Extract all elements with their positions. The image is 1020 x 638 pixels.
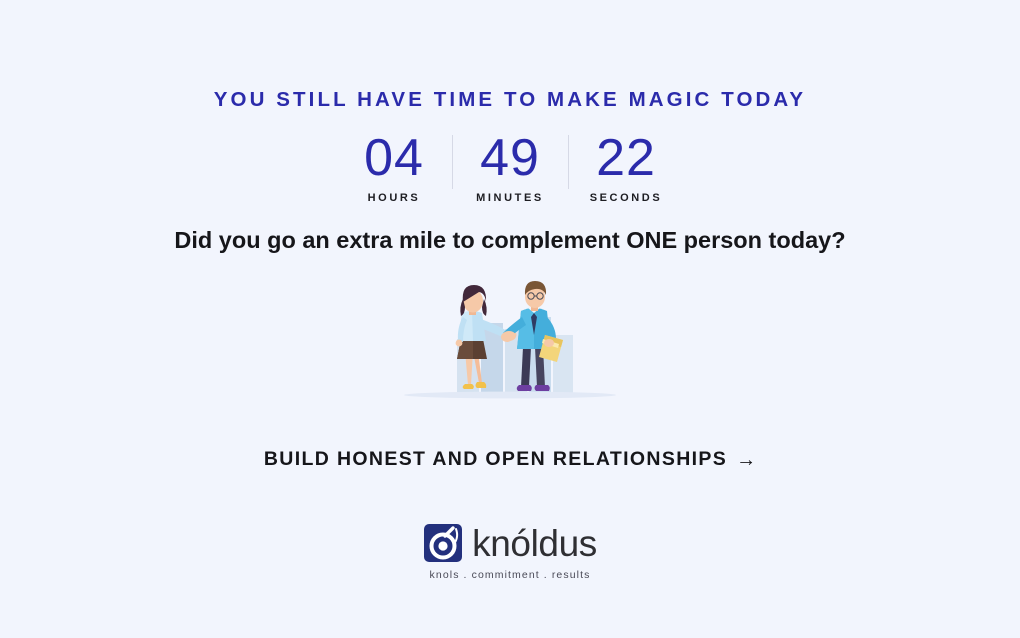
ground-shadow — [404, 392, 616, 399]
handshake-illustration-svg — [395, 277, 625, 405]
email-body: YOU STILL HAVE TIME TO MAKE MAGIC TODAY … — [0, 0, 1020, 638]
clasped-hands — [502, 331, 516, 341]
logo-wordmark: knóldus — [472, 525, 597, 562]
cta-label: BUILD HONEST AND OPEN RELATIONSHIPS — [264, 448, 727, 471]
countdown-minutes-label: MINUTES — [476, 192, 544, 204]
knoldus-logo-icon — [423, 523, 463, 563]
logo-row: knóldus — [423, 523, 597, 563]
logo-tagline: knols . commitment . results — [430, 569, 591, 581]
countdown-unit-hours: 04 HOURS — [337, 131, 452, 204]
brand-logo: knóldus knols . commitment . results — [423, 523, 597, 581]
handshake-illustration — [390, 276, 630, 406]
prompt-question: Did you go an extra mile to complement O… — [174, 227, 845, 254]
countdown-seconds-value: 22 — [596, 131, 656, 185]
countdown-hours-value: 04 — [364, 131, 424, 185]
countdown-unit-minutes: 49 MINUTES — [453, 131, 568, 204]
arrow-right-icon: → — [736, 450, 756, 470]
countdown-hours-label: HOURS — [368, 192, 421, 204]
countdown-seconds-label: SECONDS — [590, 192, 663, 204]
cta-link[interactable]: BUILD HONEST AND OPEN RELATIONSHIPS → — [264, 448, 756, 471]
countdown-unit-seconds: 22 SECONDS — [569, 131, 684, 204]
countdown-minutes-value: 49 — [480, 131, 540, 185]
countdown-timer: 04 HOURS 49 MINUTES 22 SECONDS — [337, 131, 684, 204]
page-title: YOU STILL HAVE TIME TO MAKE MAGIC TODAY — [214, 88, 806, 112]
